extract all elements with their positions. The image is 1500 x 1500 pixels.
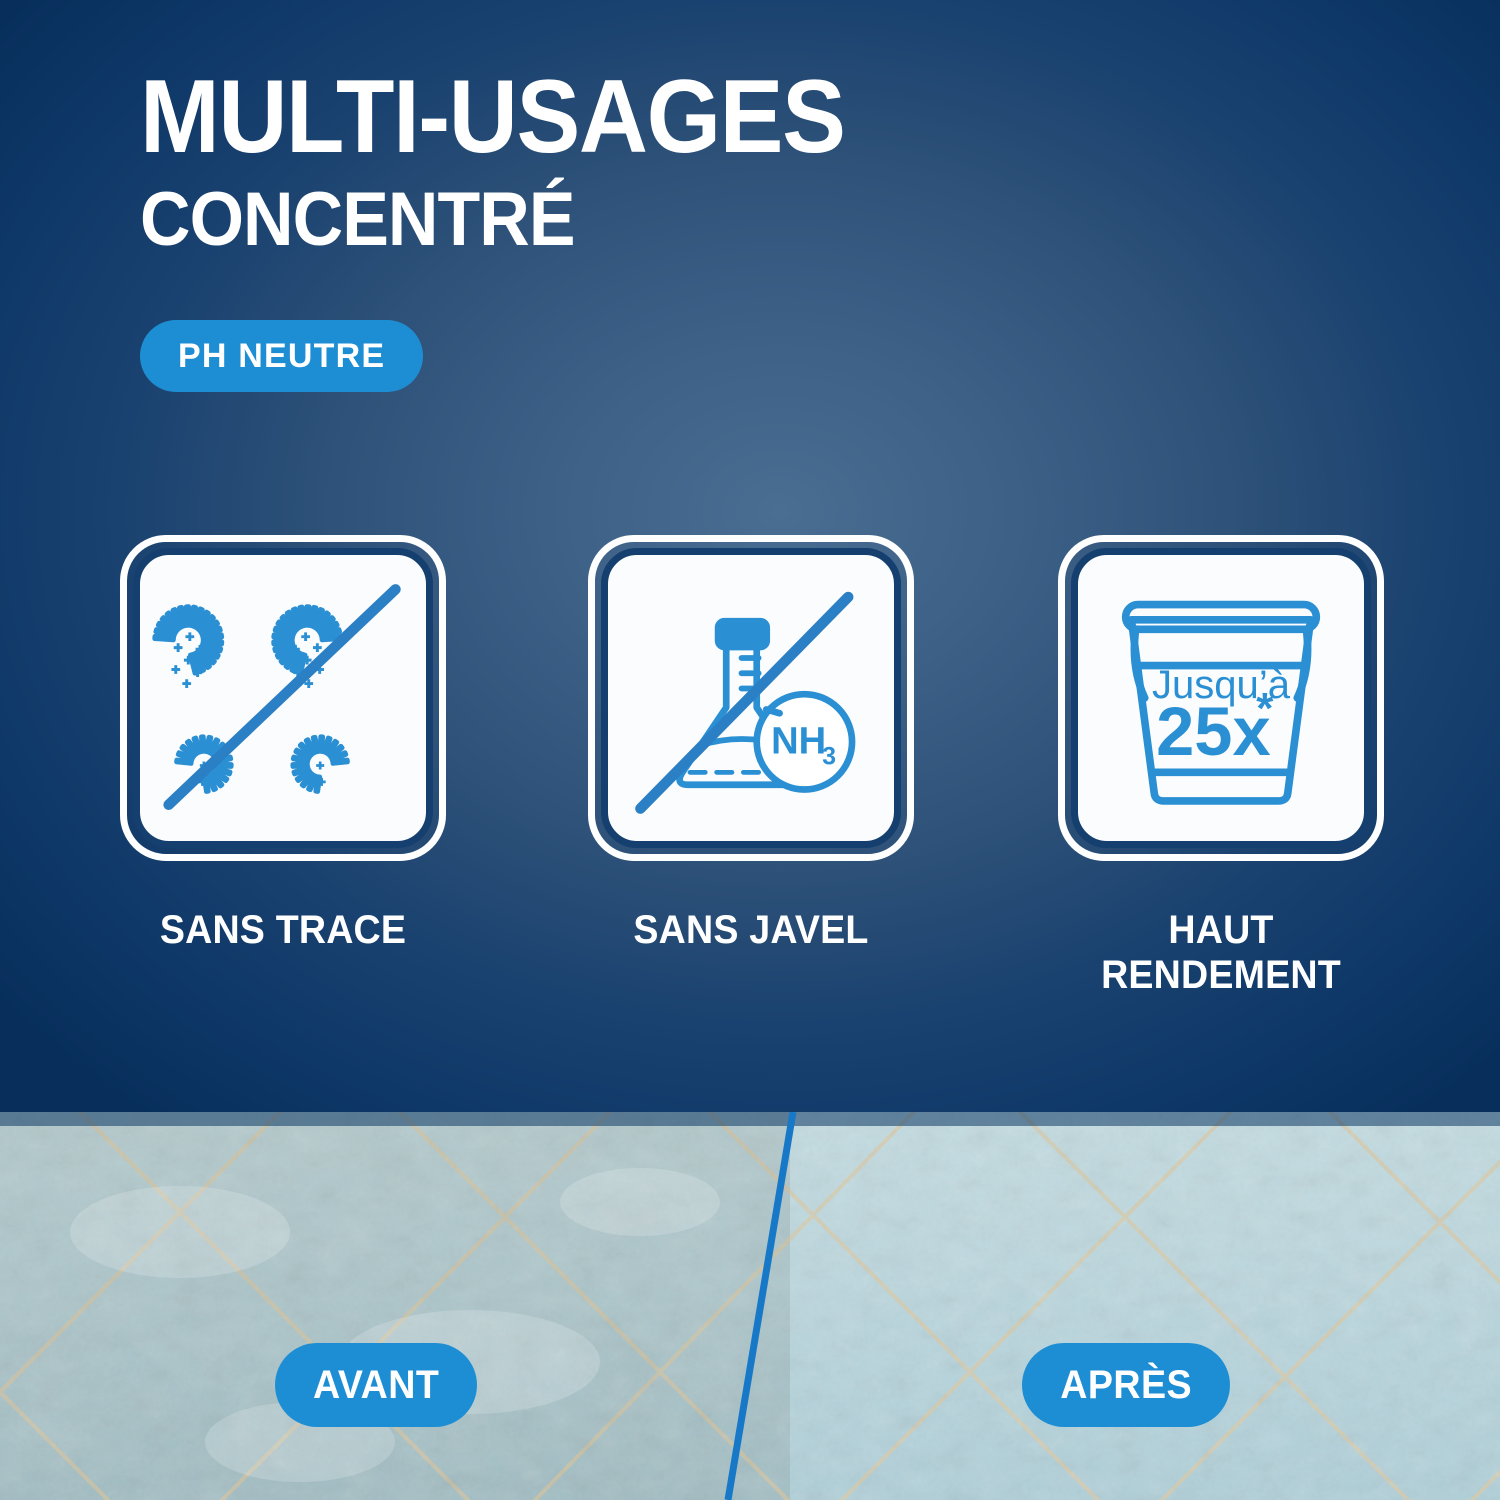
feature-card-inner: Jusqu’à 25x * (1071, 548, 1371, 848)
feature-caption-line: RENDEMENT (1061, 953, 1381, 998)
nh3-subscript: 3 (822, 744, 836, 771)
feature-caption-line: SANS TRACE (123, 908, 443, 953)
promo-banner: MULTI-USAGES CONCENTRÉ PH NEUTRE (0, 0, 1500, 1500)
tile-floor-image (0, 1112, 1500, 1500)
bucket-label-big: 25x (1156, 693, 1271, 770)
after-badge: APRÈS (1022, 1343, 1230, 1427)
before-after-photo (0, 1112, 1500, 1500)
feature-caption-line: HAUT (1061, 908, 1381, 953)
page-subtitle: CONCENTRÉ (140, 182, 845, 258)
shoe-prints-crossed-out-icon (140, 555, 426, 841)
bleach-flask-crossed-out-icon: NH 3 (608, 555, 894, 841)
ph-neutre-badge-label: PH NEUTRE (178, 337, 385, 376)
headline-block: MULTI-USAGES CONCENTRÉ (140, 68, 906, 258)
before-haze-overlay (0, 1112, 790, 1500)
feature-caption-haut-rendement: HAUT RENDEMENT (1061, 908, 1381, 998)
ph-neutre-badge: PH NEUTRE (140, 320, 423, 392)
feature-caption-sans-trace: SANS TRACE (123, 908, 443, 953)
before-badge: AVANT (275, 1343, 477, 1427)
page-title: MULTI-USAGES (140, 68, 845, 168)
feature-card-inner: NH 3 (601, 548, 901, 848)
feature-caption-sans-javel: SANS JAVEL (591, 908, 911, 953)
after-badge-label: APRÈS (1060, 1363, 1192, 1408)
after-sheen-overlay (790, 1112, 1500, 1500)
bucket-yield-icon: Jusqu’à 25x * (1078, 555, 1364, 841)
feature-card-inner (133, 548, 433, 848)
before-badge-label: AVANT (313, 1363, 439, 1408)
feature-caption-line: SANS JAVEL (591, 908, 911, 953)
nh3-label: NH (771, 719, 826, 762)
bucket-label-asterisk: * (1256, 684, 1274, 733)
feature-card-sans-javel: NH 3 (588, 535, 914, 861)
flask-cap (715, 618, 770, 650)
feature-card-sans-trace (120, 535, 446, 861)
feature-card-haut-rendement: Jusqu’à 25x * (1058, 535, 1384, 861)
